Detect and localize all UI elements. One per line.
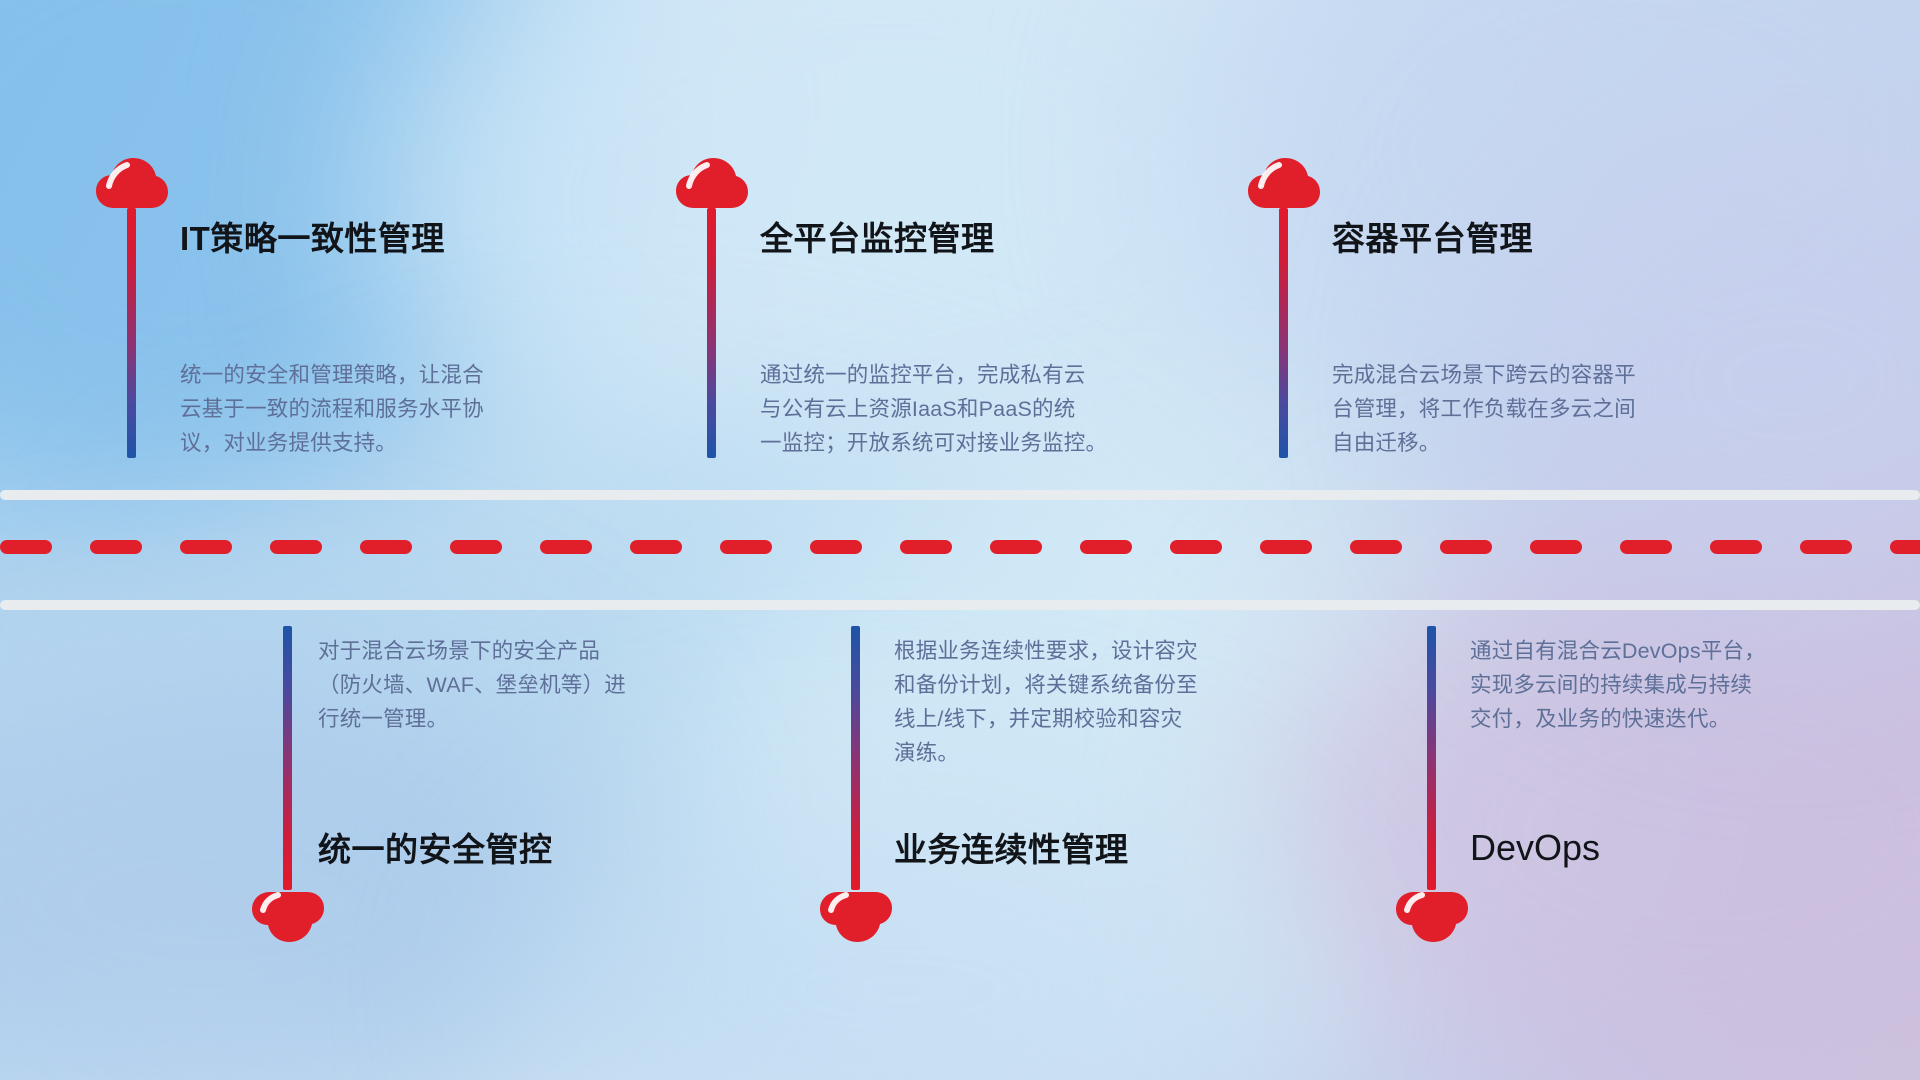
road-dash-segment: [1710, 540, 1762, 554]
description-line: 一监控；开放系统可对接业务监控。: [760, 426, 1120, 460]
description-line: 通过统一的监控平台，完成私有云: [760, 358, 1120, 392]
description-line: 自由迁移。: [1332, 426, 1662, 460]
infographic-canvas: IT策略一致性管理 统一的安全和管理策略，让混合 云基于一致的流程和服务水平协 …: [0, 0, 1920, 1080]
marker-description: 完成混合云场景下跨云的容器平 台管理，将工作负载在多云之间 自由迁移。: [1332, 358, 1662, 460]
road-dash-segment: [270, 540, 322, 554]
cloud-icon: [1396, 890, 1468, 947]
marker-title: DevOps: [1470, 830, 1600, 866]
road-dash-segment: [630, 540, 682, 554]
description-line: 和备份计划，将关键系统备份至: [894, 668, 1224, 702]
marker-description: 根据业务连续性要求，设计容灾 和备份计划，将关键系统备份至 线上/线下，并定期校…: [894, 634, 1224, 770]
description-line: （防火墙、WAF、堡垒机等）进: [318, 668, 648, 702]
background-blob: [380, 0, 1380, 560]
description-line: 议，对业务提供支持。: [180, 426, 510, 460]
marker-title: 业务连续性管理: [894, 833, 1129, 866]
marker-description: 对于混合云场景下的安全产品 （防火墙、WAF、堡垒机等）进 行统一管理。: [318, 634, 648, 736]
description-line: 统一的安全和管理策略，让混合: [180, 358, 510, 392]
marker-title: 统一的安全管控: [318, 833, 553, 866]
road-dash-segment: [990, 540, 1042, 554]
description-line: 演练。: [894, 736, 1224, 770]
marker-title: IT策略一致性管理: [180, 222, 445, 255]
road-dash-segment: [0, 540, 52, 554]
marker-stem: [283, 626, 292, 890]
road-divider: [0, 490, 1920, 610]
road-dash-segment: [1260, 540, 1312, 554]
road-dash-segment: [1890, 540, 1920, 554]
road-dash-segment: [1800, 540, 1852, 554]
description-line: 台管理，将工作负载在多云之间: [1332, 392, 1662, 426]
cloud-icon: [676, 158, 748, 215]
road-dash-segment: [1530, 540, 1582, 554]
cloud-icon: [820, 890, 892, 947]
road-center-dashes: [0, 540, 1920, 554]
description-line: 对于混合云场景下的安全产品: [318, 634, 648, 668]
description-line: 根据业务连续性要求，设计容灾: [894, 634, 1224, 668]
marker-description: 统一的安全和管理策略，让混合 云基于一致的流程和服务水平协 议，对业务提供支持。: [180, 358, 510, 460]
road-edge-top: [0, 490, 1920, 500]
road-dash-segment: [450, 540, 502, 554]
marker-description: 通过自有混合云DevOps平台， 实现多云间的持续集成与持续 交付，及业务的快速…: [1470, 634, 1800, 736]
background-blob: [520, 780, 1280, 1080]
description-line: 云基于一致的流程和服务水平协: [180, 392, 510, 426]
road-edge-bottom: [0, 600, 1920, 610]
road-dash-segment: [1350, 540, 1402, 554]
marker-stem: [1279, 208, 1288, 458]
road-dash-segment: [1440, 540, 1492, 554]
marker-stem: [851, 626, 860, 890]
description-line: 交付，及业务的快速迭代。: [1470, 702, 1800, 736]
road-dash-segment: [1170, 540, 1222, 554]
description-line: 行统一管理。: [318, 702, 648, 736]
marker-title: 容器平台管理: [1332, 222, 1533, 255]
marker-stem: [1427, 626, 1436, 890]
road-dash-segment: [540, 540, 592, 554]
marker-stem: [127, 208, 136, 458]
road-dash-segment: [720, 540, 772, 554]
description-line: 通过自有混合云DevOps平台，: [1470, 634, 1800, 668]
marker-stem: [707, 208, 716, 458]
description-line: 与公有云上资源IaaS和PaaS的统: [760, 392, 1120, 426]
road-dash-segment: [900, 540, 952, 554]
road-dash-segment: [1620, 540, 1672, 554]
description-line: 线上/线下，并定期校验和容灾: [894, 702, 1224, 736]
road-dash-segment: [90, 540, 142, 554]
marker-title: 全平台监控管理: [760, 222, 995, 255]
cloud-icon: [1248, 158, 1320, 215]
cloud-icon: [96, 158, 168, 215]
description-line: 实现多云间的持续集成与持续: [1470, 668, 1800, 702]
road-dash-segment: [810, 540, 862, 554]
marker-description: 通过统一的监控平台，完成私有云 与公有云上资源IaaS和PaaS的统 一监控；开…: [760, 358, 1120, 460]
description-line: 完成混合云场景下跨云的容器平: [1332, 358, 1662, 392]
cloud-icon: [252, 890, 324, 947]
road-dash-segment: [180, 540, 232, 554]
road-dash-segment: [360, 540, 412, 554]
road-dash-segment: [1080, 540, 1132, 554]
